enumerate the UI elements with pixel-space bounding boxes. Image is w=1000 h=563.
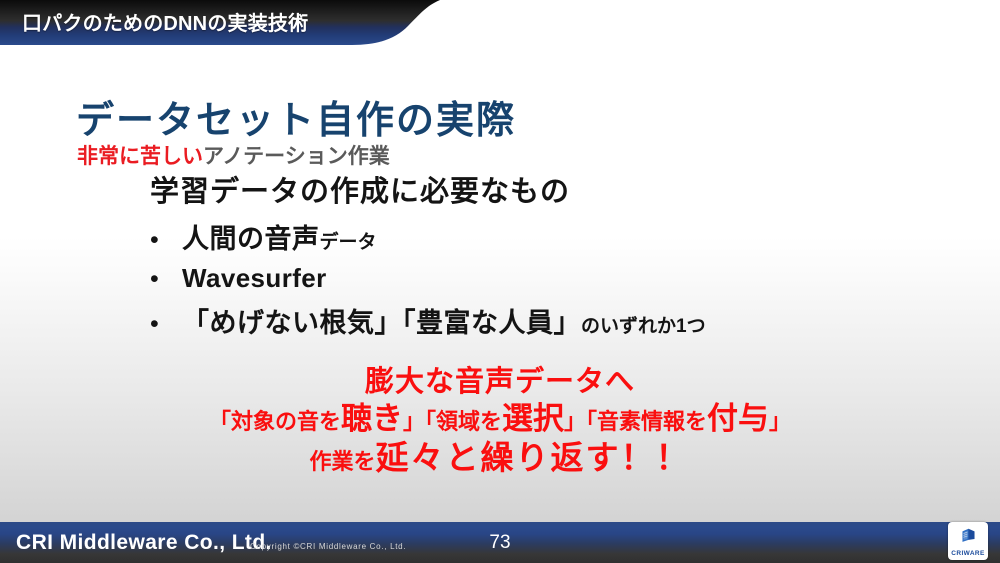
header-banner: 口パクのためのDNNの実装技術 xyxy=(0,0,470,52)
emphasis-seg: 」「領域を xyxy=(403,409,502,434)
footer-bar: CRI Middleware Co., Ltd. Copyright ©CRI … xyxy=(0,522,1000,563)
bullet-text-suffix: のいずれか1つ xyxy=(581,316,706,337)
bullet-marker-icon: • xyxy=(150,267,182,292)
body-heading: 学習データの作成に必要なもの xyxy=(150,176,950,209)
body-content: 学習データの作成に必要なもの • 人間の音声データ • Wavesurfer •… xyxy=(150,176,950,347)
emphasis-line-1: 膨大な音声データへ xyxy=(0,366,1000,398)
emphasis-seg: 「対象の音を xyxy=(209,409,341,434)
page-number: 73 xyxy=(0,532,1000,554)
emphasis-block: 膨大な音声データへ 「対象の音を聴き」「領域を選択」「音素情報を付与」 作業を延… xyxy=(0,366,1000,477)
slide-canvas: 口パクのためのDNNの実装技術 データセット自作の実際 非常に苦しいアノテーショ… xyxy=(0,0,1000,563)
subtitle-emphasis: 非常に苦しい xyxy=(77,145,203,168)
list-item: • 「めげない根気」「豊富な人員」のいずれか1つ xyxy=(150,301,950,340)
bullet-text-suffix: データ xyxy=(320,232,377,253)
emphasis-seg-strong: 付与 xyxy=(707,401,769,436)
criware-logo-badge: CRIWARE xyxy=(948,522,988,560)
bullet-text-main: 「めげない根気」「豊富な人員」 xyxy=(182,308,581,338)
bullet-text: 「めげない根気」「豊富な人員」のいずれか1つ xyxy=(182,301,706,340)
list-item: • Wavesurfer xyxy=(150,263,950,294)
header-banner-title: 口パクのためのDNNの実装技術 xyxy=(22,7,308,36)
bullet-marker-icon: • xyxy=(150,228,182,253)
list-item: • 人間の音声データ xyxy=(150,217,950,256)
bullet-text: Wavesurfer xyxy=(182,263,327,294)
subtitle-rest: アノテーション作業 xyxy=(203,145,390,168)
bullet-marker-icon: • xyxy=(150,312,182,337)
emphasis-seg-strong: 選択 xyxy=(502,401,564,436)
emphasis-line-2: 「対象の音を聴き」「領域を選択」「音素情報を付与」 xyxy=(0,402,1000,437)
criware-logo-text: CRIWARE xyxy=(951,550,985,557)
emphasis-seg: 」「音素情報を xyxy=(564,409,707,434)
emphasis-seg-strong: 延々と繰り返す！！ xyxy=(376,439,691,476)
bullet-text-main: 人間の音声 xyxy=(182,224,320,254)
emphasis-line-3: 作業を延々と繰り返す！！ xyxy=(0,440,1000,477)
emphasis-seg: 作業を xyxy=(309,449,375,474)
slide-title: データセット自作の実際 xyxy=(76,89,516,144)
bullet-text: 人間の音声データ xyxy=(182,217,377,256)
slide-subtitle: 非常に苦しいアノテーション作業 xyxy=(77,140,390,170)
emphasis-seg: 」 xyxy=(769,409,791,434)
cube-icon xyxy=(960,527,977,549)
emphasis-seg-strong: 聴き xyxy=(341,401,403,436)
